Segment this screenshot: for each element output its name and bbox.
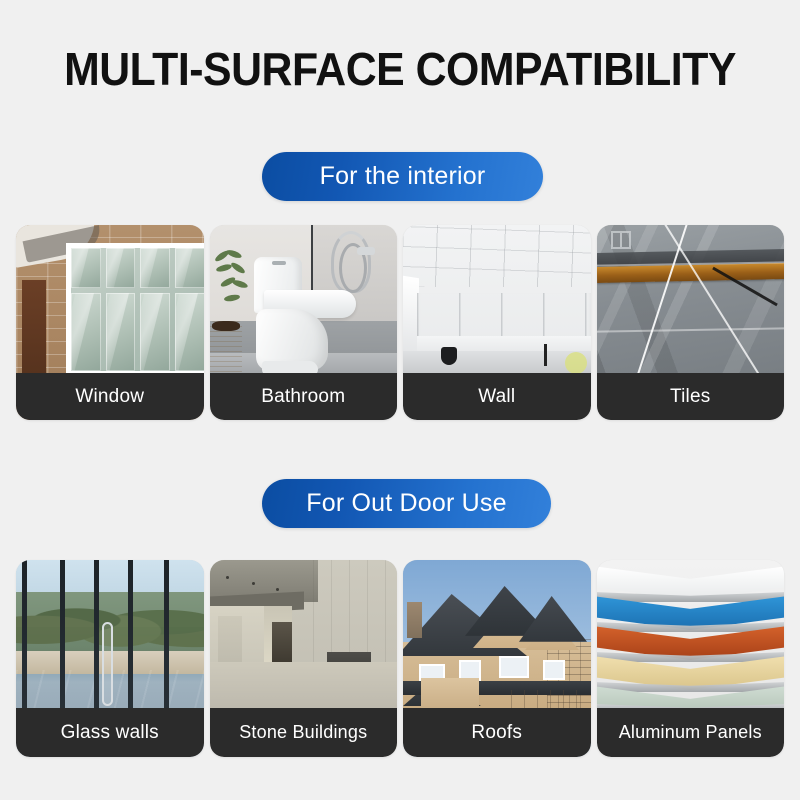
card-label-glass-walls: Glass walls xyxy=(61,722,159,744)
concrete-floor xyxy=(210,662,398,710)
interior-card-row: Window xyxy=(16,225,784,420)
card-window[interactable]: Window xyxy=(16,225,204,420)
doorway-shadow xyxy=(272,622,292,662)
front-porch xyxy=(421,678,479,710)
basket-soil xyxy=(212,321,240,331)
door-handle xyxy=(102,622,113,706)
cooking-pot xyxy=(441,347,457,365)
house-window xyxy=(543,660,565,680)
faucet xyxy=(544,344,547,366)
page-title: MULTI-SURFACE COMPATIBILITY xyxy=(28,42,772,96)
card-caption-bathroom: Bathroom xyxy=(210,373,398,420)
section-button-outdoor-label: For Out Door Use xyxy=(306,489,506,518)
product-feature-page: MULTI-SURFACE COMPATIBILITY For the inte… xyxy=(0,0,800,800)
card-caption-tiles: Tiles xyxy=(597,373,785,420)
page-title-wrap: MULTI-SURFACE COMPATIBILITY xyxy=(0,42,800,96)
card-label-stone-buildings: Stone Buildings xyxy=(239,722,367,743)
card-caption-stone-buildings: Stone Buildings xyxy=(210,708,398,757)
window-pane xyxy=(71,293,101,371)
card-wall[interactable]: Wall xyxy=(403,225,591,420)
garage-door xyxy=(511,690,589,710)
tie-hole xyxy=(252,582,255,585)
card-label-window: Window xyxy=(75,386,144,408)
card-label-bathroom: Bathroom xyxy=(261,386,345,408)
card-label-wall: Wall xyxy=(478,386,515,408)
card-aluminum-panels[interactable]: Aluminum Panels xyxy=(597,560,785,757)
window-glazing xyxy=(71,248,204,371)
window-pane xyxy=(175,293,204,371)
section-button-outdoor[interactable]: For Out Door Use xyxy=(262,479,551,528)
reflected-window xyxy=(611,231,631,249)
section-button-interior[interactable]: For the interior xyxy=(262,152,543,201)
section-button-interior-label: For the interior xyxy=(320,162,486,191)
card-caption-roofs: Roofs xyxy=(403,708,591,757)
card-label-tiles: Tiles xyxy=(670,386,710,408)
window-pane xyxy=(106,293,136,371)
card-caption-aluminum-panels: Aluminum Panels xyxy=(597,708,785,757)
card-caption-window: Window xyxy=(16,373,204,420)
shower-handle xyxy=(357,247,375,255)
card-tiles[interactable]: Tiles xyxy=(597,225,785,420)
card-caption-glass-walls: Glass walls xyxy=(16,708,204,757)
card-stone-buildings[interactable]: Stone Buildings xyxy=(210,560,398,757)
countertop xyxy=(403,351,591,373)
card-roofs[interactable]: Roofs xyxy=(403,560,591,757)
ceiling-grid xyxy=(403,225,591,287)
decor-sphere xyxy=(565,352,587,374)
card-caption-wall: Wall xyxy=(403,373,591,420)
house-window xyxy=(499,656,529,678)
flush-button xyxy=(272,261,286,265)
card-glass-walls[interactable]: Glass walls xyxy=(16,560,204,757)
window-pane xyxy=(71,248,101,288)
potted-plant xyxy=(212,251,252,315)
panel-stack xyxy=(597,564,785,717)
outdoor-card-row: Glass walls Stone Buildings xyxy=(16,560,784,757)
tie-hole xyxy=(226,576,229,579)
card-label-roofs: Roofs xyxy=(471,722,522,744)
window-pane xyxy=(175,248,204,288)
window-frame xyxy=(66,243,204,376)
chimney xyxy=(407,602,422,638)
card-bathroom[interactable]: Bathroom xyxy=(210,225,398,420)
window-pane xyxy=(140,293,170,371)
window-pane xyxy=(140,248,170,288)
card-label-aluminum-panels: Aluminum Panels xyxy=(619,722,762,743)
tie-hole xyxy=(276,588,279,591)
window-pane xyxy=(106,248,136,288)
